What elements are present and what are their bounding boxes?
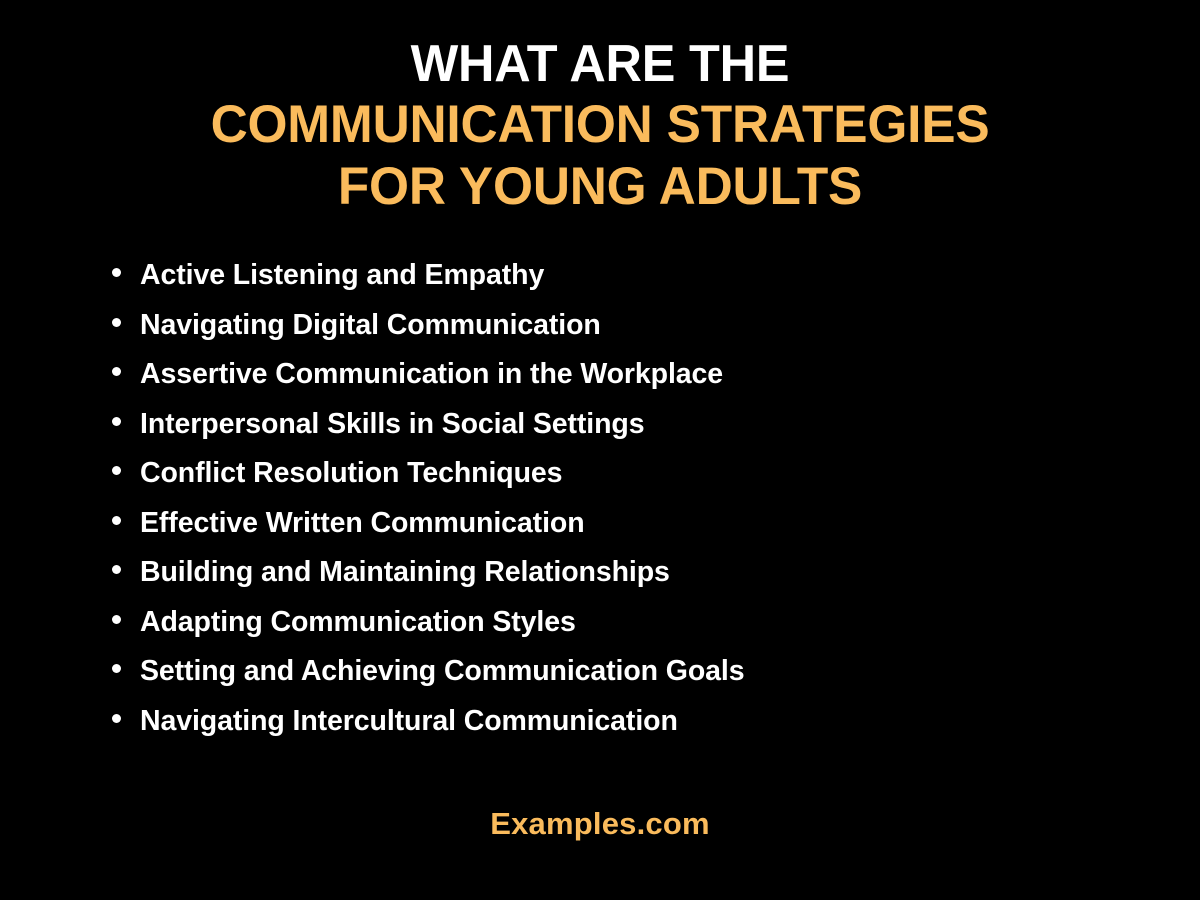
bullet-dot-icon — [112, 565, 121, 574]
list-item: Navigating Intercultural Communication — [112, 707, 1200, 757]
list-item-label: Conflict Resolution Techniques — [140, 459, 562, 488]
bullet-dot-icon — [112, 714, 121, 723]
bullet-dot-icon — [112, 615, 121, 624]
bullet-dot-icon — [112, 516, 121, 525]
list-item: Building and Maintaining Relationships — [112, 558, 1200, 608]
list-item: Setting and Achieving Communication Goal… — [112, 657, 1200, 707]
bullet-dot-icon — [112, 268, 121, 277]
list-item-label: Assertive Communication in the Workplace — [140, 360, 723, 389]
page-title: WHAT ARE THE COMMUNICATION STRATEGIES FO… — [0, 0, 1200, 217]
brand-wordmark: Examples.com — [490, 806, 710, 841]
list-item: Active Listening and Empathy — [112, 261, 1200, 311]
bullet-dot-icon — [112, 417, 121, 426]
list-item-label: Building and Maintaining Relationships — [140, 558, 670, 587]
title-line-1: WHAT ARE THE — [18, 34, 1182, 94]
list-item-label: Interpersonal Skills in Social Settings — [140, 410, 645, 439]
title-line-3: FOR YOUNG ADULTS — [18, 156, 1182, 217]
strategy-list: Active Listening and Empathy Navigating … — [112, 261, 1200, 756]
bullet-dot-icon — [112, 367, 121, 376]
bullet-dot-icon — [112, 664, 121, 673]
list-item: Navigating Digital Communication — [112, 311, 1200, 361]
list-item: Conflict Resolution Techniques — [112, 459, 1200, 509]
list-item-label: Navigating Intercultural Communication — [140, 707, 678, 736]
strategy-list-container: Active Listening and Empathy Navigating … — [0, 261, 1200, 756]
list-item-label: Active Listening and Empathy — [140, 261, 544, 290]
list-item-label: Adapting Communication Styles — [140, 608, 576, 637]
list-item: Interpersonal Skills in Social Settings — [112, 410, 1200, 460]
bullet-dot-icon — [112, 318, 121, 327]
title-line-2: COMMUNICATION STRATEGIES — [18, 94, 1182, 155]
list-item: Assertive Communication in the Workplace — [112, 360, 1200, 410]
list-item-label: Effective Written Communication — [140, 509, 585, 538]
poster-canvas: WHAT ARE THE COMMUNICATION STRATEGIES FO… — [0, 0, 1200, 900]
list-item-label: Navigating Digital Communication — [140, 311, 601, 340]
bullet-dot-icon — [112, 466, 121, 475]
list-item: Adapting Communication Styles — [112, 608, 1200, 658]
list-item: Effective Written Communication — [112, 509, 1200, 559]
list-item-label: Setting and Achieving Communication Goal… — [140, 657, 745, 686]
footer: Examples.com — [0, 806, 1200, 842]
